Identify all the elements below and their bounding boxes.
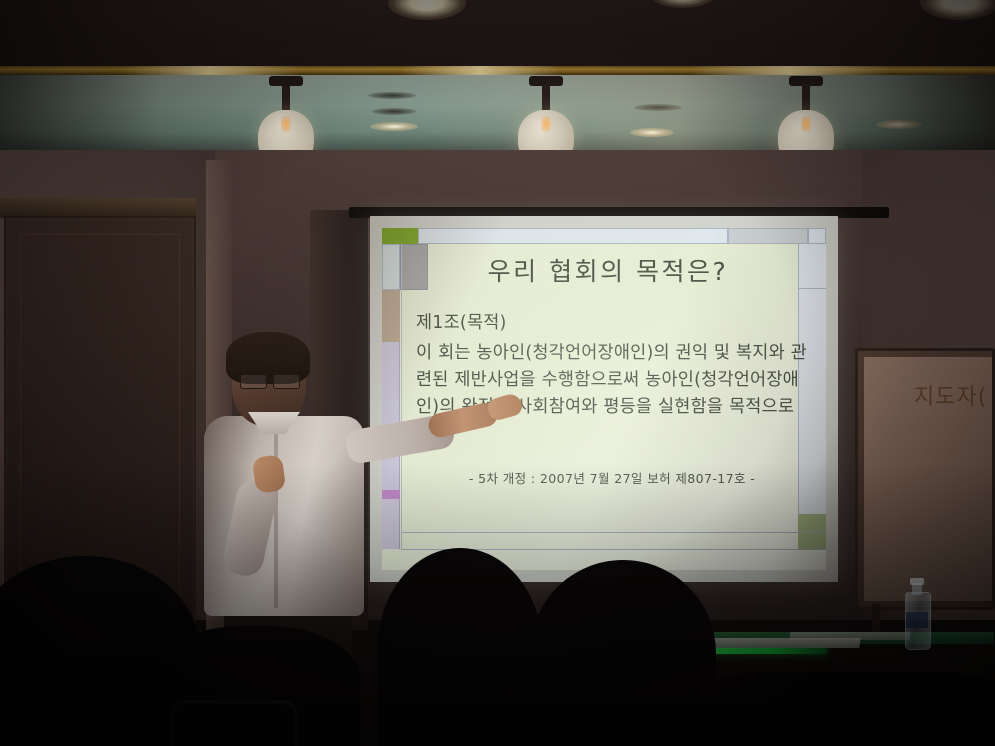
lamp-filament — [541, 116, 551, 132]
brass-glint — [400, 66, 560, 75]
water-bottle — [905, 578, 929, 648]
glasses-lens — [273, 374, 300, 389]
lamp-filament — [801, 116, 811, 132]
audience-silhouette — [530, 560, 716, 746]
presentation-slide: 우리 협회의 목적은? 제1조(목적) 이 회는 농아인(청각언어장애인)의 권… — [382, 228, 826, 570]
audience-silhouette — [378, 548, 542, 746]
slide-deco-topbar — [808, 228, 826, 244]
slide-article-heading: 제1조(목적) — [416, 310, 808, 337]
glasses-icon — [240, 374, 300, 387]
slide-deco-topbar — [728, 228, 808, 244]
slide-deco-green-block — [382, 228, 418, 244]
glasses-bridge — [265, 379, 273, 381]
slide-deco-line — [798, 288, 826, 289]
glasses-lens — [240, 374, 267, 389]
slide-deco-topbar — [418, 228, 728, 244]
slide-footnote: - 5차 개정 : 2007년 7월 27일 보허 제807-17호 - — [416, 468, 808, 487]
brass-glint — [120, 66, 300, 75]
slide-deco-blue-block — [382, 244, 400, 290]
audience-silhouette — [690, 672, 995, 746]
lamp-filament — [281, 116, 291, 132]
presenter-shirt-shading — [204, 416, 364, 616]
door-panel — [20, 234, 180, 598]
slide-title: 우리 협회의 목적은? — [422, 252, 794, 288]
presenter-left-hand — [252, 454, 287, 494]
whiteboard-handwriting: 지도자( — [914, 379, 987, 411]
bottle-cap — [910, 578, 924, 585]
slide-deco-line — [401, 532, 826, 533]
chair-back — [170, 700, 298, 746]
whiteboard: 지도자( — [855, 348, 995, 610]
soffit-shading — [0, 75, 995, 153]
brass-glint — [690, 66, 890, 75]
door-header — [0, 198, 196, 218]
shirt-placket — [274, 426, 278, 608]
whiteboard-surface: 지도자( — [864, 357, 992, 601]
presentation-room-photo: 우리 협회의 목적은? 제1조(목적) 이 회는 농아인(청각언어장애인)의 권… — [0, 0, 995, 746]
bottle-label — [906, 612, 928, 628]
